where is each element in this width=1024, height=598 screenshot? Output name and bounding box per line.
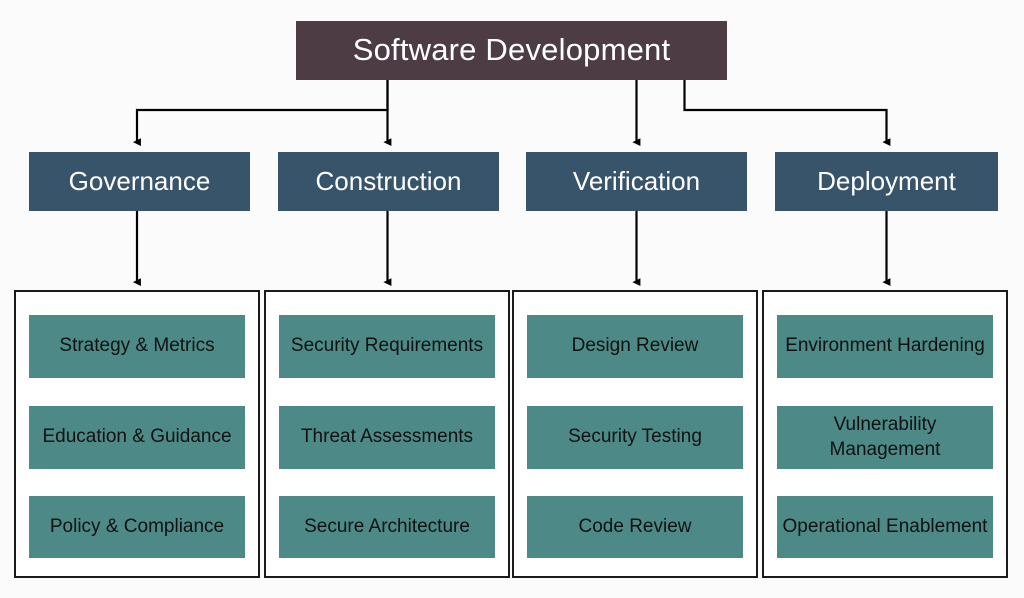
item-node-label: Vulnerability Management	[777, 413, 993, 462]
item-node-policy-and-compliance[interactable]: Policy & Compliance	[29, 496, 245, 558]
connector-root-to-deployment	[685, 80, 887, 142]
item-node-label: Environment Hardening	[781, 334, 989, 358]
item-node-education-and-guidance[interactable]: Education & Guidance	[29, 406, 245, 469]
item-node-security-testing[interactable]: Security Testing	[527, 406, 743, 469]
category-node-construction[interactable]: Construction	[278, 152, 499, 211]
item-container-governance: Strategy & Metrics Education & Guidance …	[14, 290, 260, 578]
item-node-design-review[interactable]: Design Review	[527, 315, 743, 378]
root-node-software-development[interactable]: Software Development	[296, 21, 727, 80]
item-node-label: Design Review	[568, 334, 703, 358]
category-node-deployment[interactable]: Deployment	[775, 152, 998, 211]
category-node-label: Governance	[69, 166, 211, 197]
item-node-operational-enablement[interactable]: Operational Enablement	[777, 496, 993, 558]
item-node-strategy-and-metrics[interactable]: Strategy & Metrics	[29, 315, 245, 378]
software-development-hierarchy-diagram: Software Development Governance Construc…	[0, 0, 1024, 598]
item-node-vulnerability-management[interactable]: Vulnerability Management	[777, 406, 993, 469]
category-node-governance[interactable]: Governance	[29, 152, 250, 211]
item-node-label: Security Testing	[564, 425, 706, 449]
item-node-label: Code Review	[575, 515, 696, 539]
item-node-label: Policy & Compliance	[46, 515, 228, 539]
connector-root-to-governance	[137, 80, 388, 142]
item-node-secure-architecture[interactable]: Secure Architecture	[279, 496, 495, 558]
category-node-label: Verification	[573, 166, 700, 197]
item-node-label: Secure Architecture	[300, 515, 474, 539]
item-node-environment-hardening[interactable]: Environment Hardening	[777, 315, 993, 378]
item-node-label: Threat Assessments	[297, 425, 477, 449]
category-node-label: Construction	[316, 166, 462, 197]
category-node-verification[interactable]: Verification	[526, 152, 747, 211]
item-node-label: Operational Enablement	[779, 515, 992, 539]
item-node-label: Strategy & Metrics	[55, 334, 218, 358]
item-node-code-review[interactable]: Code Review	[527, 496, 743, 558]
category-node-label: Deployment	[817, 166, 956, 197]
item-container-construction: Security Requirements Threat Assessments…	[264, 290, 510, 578]
item-container-deployment: Environment Hardening Vulnerability Mana…	[762, 290, 1008, 578]
item-node-threat-assessments[interactable]: Threat Assessments	[279, 406, 495, 469]
root-node-label: Software Development	[353, 32, 671, 69]
item-node-label: Security Requirements	[287, 334, 487, 358]
item-node-security-requirements[interactable]: Security Requirements	[279, 315, 495, 378]
item-container-verification: Design Review Security Testing Code Revi…	[512, 290, 758, 578]
item-node-label: Education & Guidance	[38, 425, 235, 449]
